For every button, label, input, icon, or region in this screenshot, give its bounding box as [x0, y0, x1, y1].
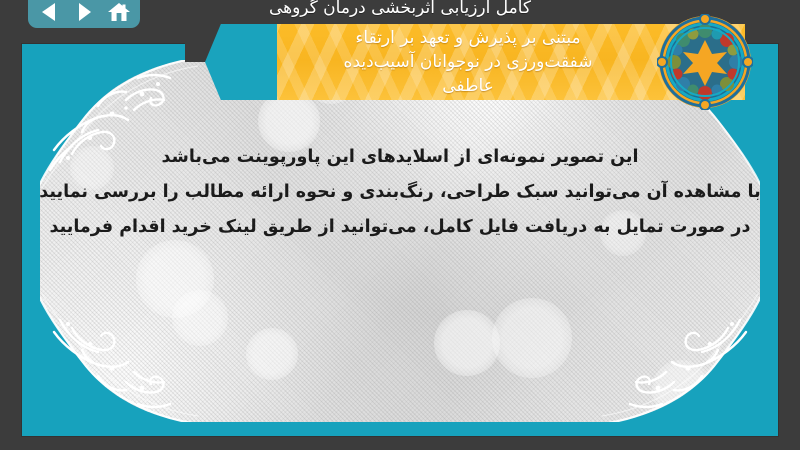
- persian-arabesque-corner-icon: [40, 294, 198, 422]
- persian-medallion-icon: [657, 14, 753, 110]
- navigation-toolbar: [28, 0, 140, 28]
- banner-title-line: مبتنی بر پذیرش و تعهد بر ارتقاء: [355, 26, 580, 50]
- bokeh-circle: [246, 328, 298, 380]
- home-button[interactable]: [106, 0, 132, 24]
- banner-title-text: مبتنی بر پذیرش و تعهد بر ارتقاء شفقت‌ورز…: [268, 24, 668, 100]
- forward-button[interactable]: [71, 0, 97, 24]
- bokeh-circle: [434, 310, 500, 376]
- body-line: با مشاهده آن می‌توانید سبک طراحی، رنگ‌بن…: [22, 175, 778, 210]
- banner-title-line: شفقت‌ورزی در نوجوانان آسیب‌دیده: [344, 50, 593, 74]
- triangle-left-icon: [40, 2, 58, 22]
- bokeh-circle: [652, 360, 710, 418]
- bokeh-circle: [136, 240, 214, 318]
- back-button[interactable]: [36, 0, 62, 24]
- triangle-right-icon: [76, 2, 92, 22]
- slide-title-banner: مبتنی بر پذیرش و تعهد بر ارتقاء شفقت‌ورز…: [205, 24, 745, 100]
- slide-body-text: این تصویر نمونه‌ای از اسلایدهای این پاور…: [22, 140, 778, 245]
- body-line: در صورت تمایل به دریافت فایل کامل، می‌تو…: [22, 210, 778, 245]
- persian-arabesque-corner-icon: [602, 294, 760, 422]
- bokeh-circle: [172, 290, 228, 346]
- banner-title-line: عاطفی: [442, 74, 494, 98]
- bokeh-circle: [492, 298, 572, 378]
- body-line: این تصویر نمونه‌ای از اسلایدهای این پاور…: [22, 140, 778, 175]
- home-icon: [107, 1, 131, 23]
